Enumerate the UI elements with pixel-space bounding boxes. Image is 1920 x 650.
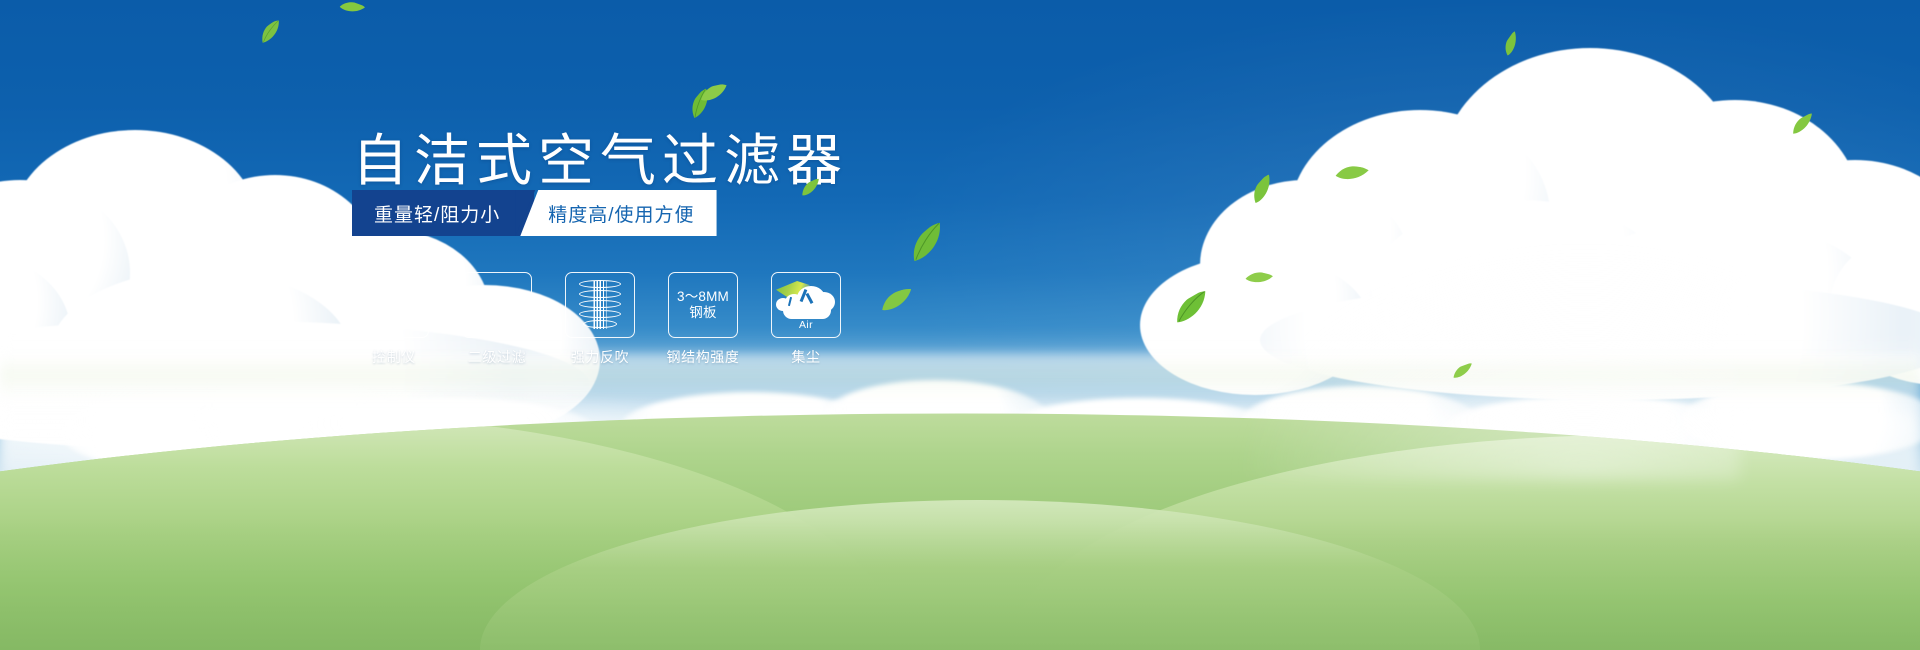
dial-pointer (390, 291, 398, 323)
feature-item-dust-collection[interactable]: Air 集尘 (770, 272, 842, 367)
grass-shading (0, 520, 1920, 650)
feature-icon-box: 0.6～0.8 MPA (462, 272, 532, 338)
sun-glow (1220, 240, 1740, 480)
feature-tabs: 重量轻/阻力小 精度高/使用方便 (352, 190, 717, 236)
tab-label: 精度高/使用方便 (548, 200, 694, 227)
coil-blowback-icon (579, 279, 621, 331)
feature-label: 二级过滤 (468, 347, 526, 367)
dial-mark-no: NO (365, 309, 375, 315)
pressure-text-icon: 0.6～0.8 MPA (471, 289, 523, 321)
feature-icon-box: NO OFF (359, 272, 429, 338)
tab-high-precision-easy-use[interactable]: 精度高/使用方便 (520, 190, 716, 236)
leaf-icon (878, 287, 916, 314)
tab-lightweight-low-resistance[interactable]: 重量轻/阻力小 (352, 190, 534, 236)
cloud-air-label: Air (775, 319, 837, 331)
dial-mark-off: OFF (409, 323, 422, 329)
feature-item-control-instrument[interactable]: NO OFF 控制仪 (358, 272, 430, 367)
steel-plate-text-icon: 3～8MM 钢板 (677, 289, 729, 321)
feature-label: 钢结构强度 (667, 347, 740, 367)
tab-label: 重量轻/阻力小 (374, 200, 500, 227)
feature-item-secondary-filtration[interactable]: 0.6～0.8 MPA 二级过滤 (461, 272, 533, 367)
feature-icon-box (565, 272, 635, 338)
feature-item-steel-structure-strength[interactable]: 3～8MM 钢板 钢结构强度 (667, 272, 739, 367)
feature-label: 强力反吹 (571, 347, 629, 367)
leaf-icon (699, 83, 730, 103)
feature-item-strong-blowback[interactable]: 强力反吹 (564, 272, 636, 367)
feature-label: 集尘 (791, 347, 820, 367)
hero-banner: 自洁式空气过滤器 重量轻/阻力小 精度高/使用方便 (0, 0, 1920, 650)
feature-icon-box: 3～8MM 钢板 (668, 272, 738, 338)
feature-icon-box: Air (771, 272, 841, 338)
leaf-icon (339, 0, 366, 18)
leaf-icon (256, 19, 285, 45)
feature-label: 控制仪 (372, 347, 416, 367)
feature-icon-row: NO OFF 控制仪 0.6～0.8 MPA 二级过滤 (358, 272, 842, 367)
page-title: 自洁式空气过滤器 (352, 116, 848, 197)
leaf-icon (904, 220, 952, 265)
control-dial-icon: NO OFF (366, 279, 422, 331)
air-cloud-icon: Air (775, 280, 837, 330)
